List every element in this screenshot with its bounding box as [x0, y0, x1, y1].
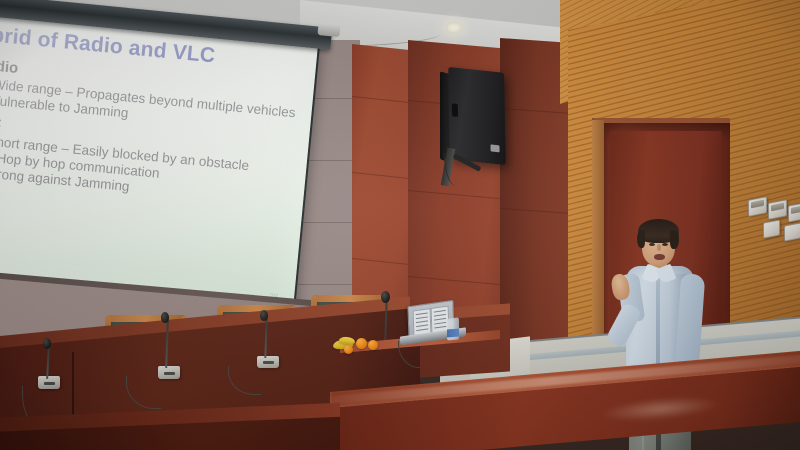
shirt-placket — [656, 278, 660, 364]
left-eye — [649, 243, 655, 246]
projection-screen-end-cap — [317, 23, 340, 37]
delegate-microphone-3-head — [260, 310, 268, 321]
delegate-microphone-1-head — [43, 338, 51, 349]
podium-microphone-head[interactable] — [381, 291, 390, 303]
photograph-scene: ybrid of Radio and VLC Radio Wide range … — [0, 0, 800, 450]
downlight-icon — [446, 22, 462, 33]
door-reveal — [592, 120, 604, 368]
water-bottle[interactable] — [447, 317, 459, 340]
loudspeaker-logo — [490, 144, 499, 152]
orange-2 — [368, 340, 378, 350]
orange-1 — [356, 338, 367, 349]
orange-3 — [344, 345, 353, 354]
light-switch-plate-4[interactable] — [763, 219, 780, 238]
hair-left-side — [637, 230, 645, 248]
delegate-microphone-2-head — [161, 312, 169, 323]
water-bottle-label — [447, 328, 459, 337]
hair-right-side — [670, 230, 679, 249]
mouth — [654, 254, 665, 260]
delegate-microphone-2-base[interactable] — [158, 366, 180, 379]
light-switch-plate-3[interactable] — [788, 202, 800, 222]
loudspeaker-port — [452, 103, 458, 117]
loudspeaker-icon — [448, 67, 506, 165]
projection-screen: ybrid of Radio and VLC Radio Wide range … — [0, 8, 320, 313]
light-switch-plate-5[interactable] — [784, 222, 800, 241]
slide-content: ybrid of Radio and VLC Radio Wide range … — [0, 10, 318, 311]
nose — [657, 244, 661, 251]
right-eye — [662, 243, 668, 246]
